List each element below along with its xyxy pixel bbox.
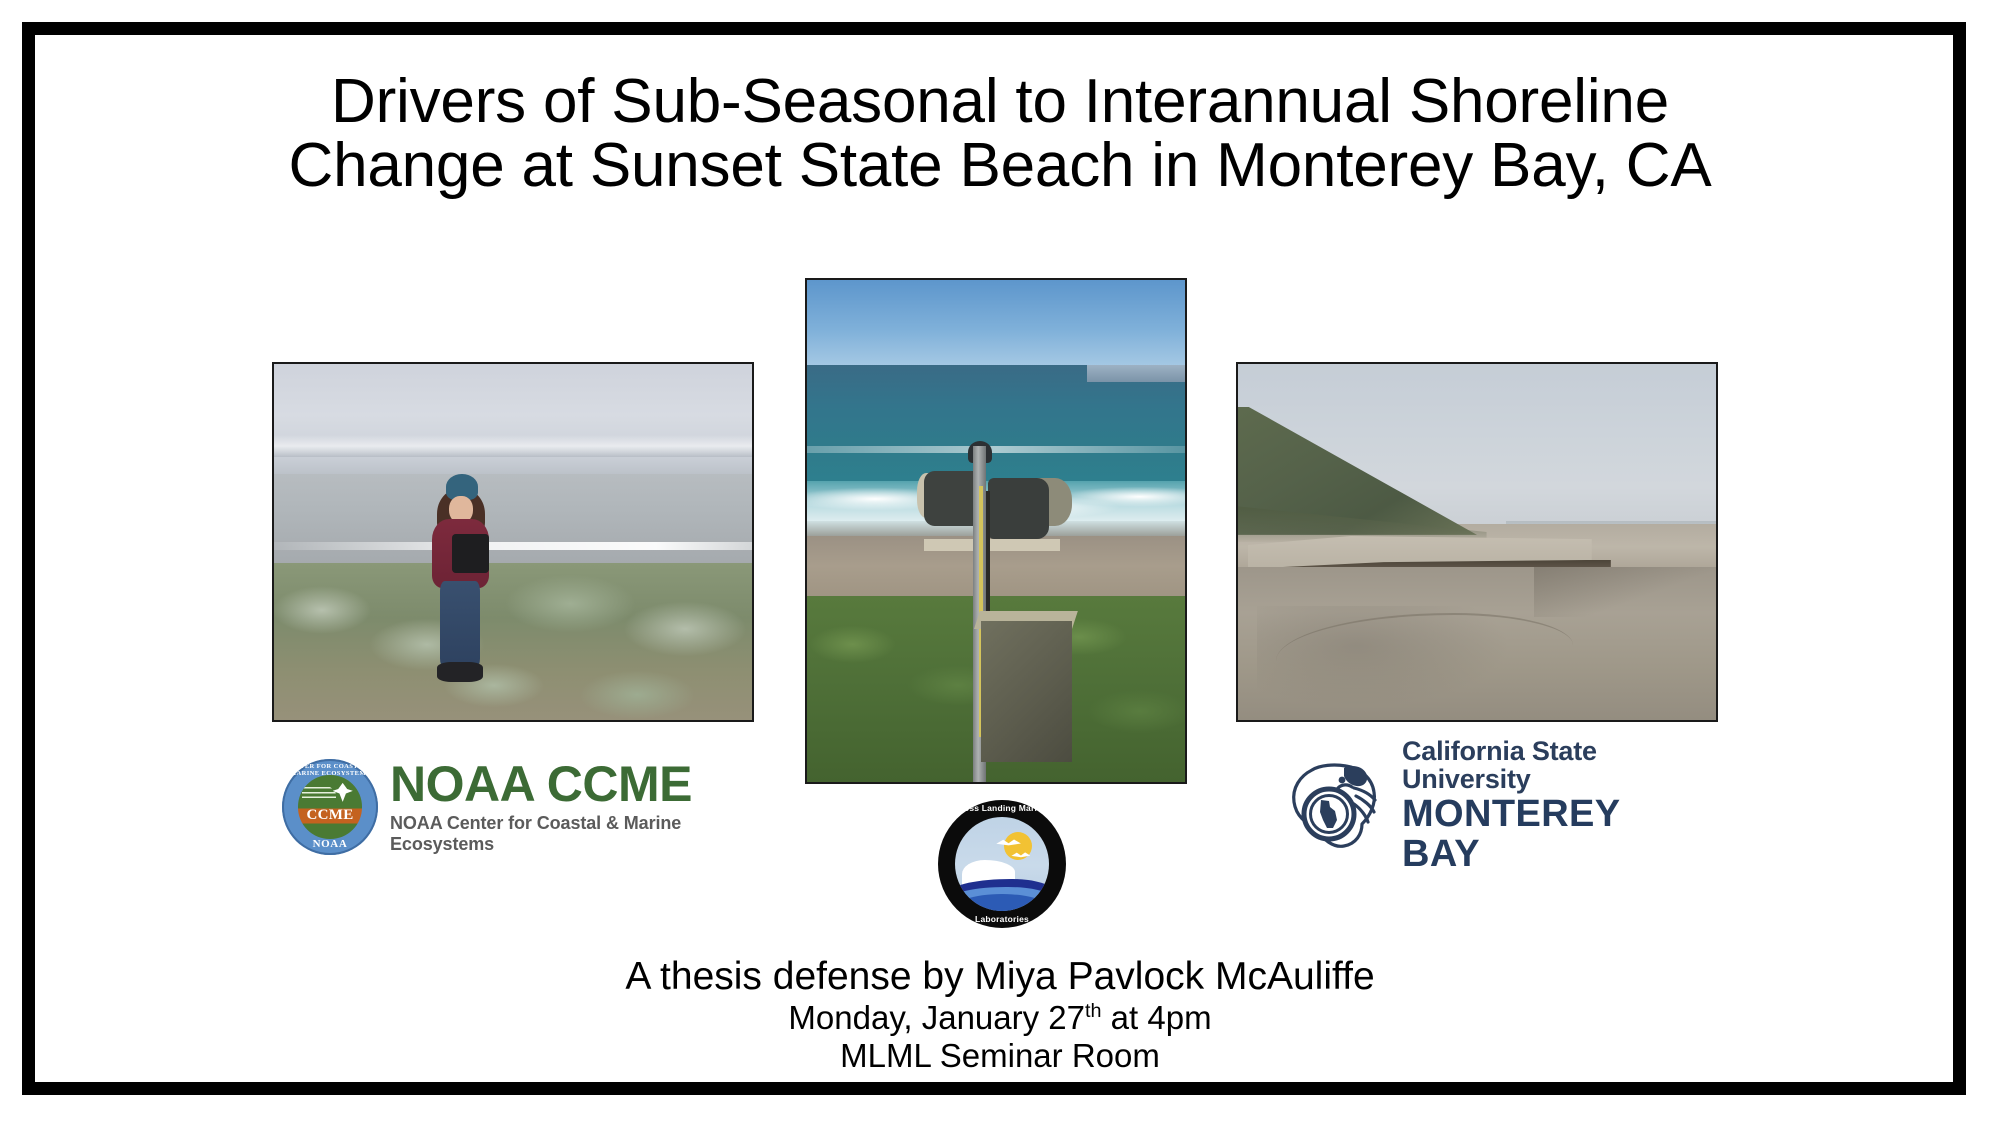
seal-wave-lines <box>302 784 336 802</box>
jeans <box>440 581 480 666</box>
surf-line-outer <box>274 542 752 550</box>
mlml-arc-top-text: Moss Landing Marine <box>938 803 1066 813</box>
camera-housing-right <box>988 478 1048 538</box>
page-title: Drivers of Sub-Seasonal to Interannual S… <box>120 70 1880 199</box>
photo-coastal-camera-station <box>805 278 1187 784</box>
grey-ocean <box>274 474 752 574</box>
date-ordinal: th <box>1085 1000 1102 1022</box>
csumb-university-line: California State University <box>1402 737 1682 794</box>
cloud-band <box>274 435 752 456</box>
seal-arc-bottom-text: NOAA <box>282 838 378 850</box>
offshore-swell-line <box>807 446 1185 453</box>
defense-location-line: MLML Seminar Room <box>120 1037 1880 1075</box>
equipment-box <box>981 621 1072 762</box>
camera-housing-left <box>924 471 977 526</box>
photo-eroded-beach-scarp <box>1236 362 1718 722</box>
title-line-2: Change at Sunset State Beach in Monterey… <box>120 134 1880 198</box>
seal-ccme-text: CCME <box>298 808 361 823</box>
defense-presenter-line: A thesis defense by Miya Pavlock McAulif… <box>120 955 1880 999</box>
mounting-plate <box>924 539 1060 551</box>
csumb-campus-line: MONTEREY BAY <box>1402 795 1682 875</box>
presentation-slide: Drivers of Sub-Seasonal to Interannual S… <box>0 0 2000 1125</box>
footer-details: A thesis defense by Miya Pavlock McAulif… <box>120 955 1880 1075</box>
noaa-ccme-logo: CENTER FOR COASTAL & MARINE ECOSYSTEMS N… <box>282 752 746 862</box>
photo-researcher-on-coastal-bluff <box>272 362 754 722</box>
date-suffix: at 4pm <box>1102 999 1212 1036</box>
otter-head-icon <box>1282 754 1388 858</box>
noaa-ccme-tagline: NOAA Center for Coastal & Marine Ecosyst… <box>390 813 746 855</box>
distant-headland <box>1087 365 1185 382</box>
mlml-arc-bottom-text: Laboratories <box>938 914 1066 924</box>
camera-bag <box>452 534 489 572</box>
mlml-seal-scene <box>955 817 1050 912</box>
title-line-1: Drivers of Sub-Seasonal to Interannual S… <box>120 70 1880 134</box>
mlml-logo: Moss Landing Marine Laboratories <box>938 800 1066 928</box>
blue-sky <box>807 280 1185 370</box>
overcast-sky <box>274 364 752 478</box>
vehicle-tracks <box>1534 567 1716 617</box>
noaa-ccme-text-block: NOAA CCME NOAA Center for Coastal & Mari… <box>390 759 746 855</box>
date-prefix: Monday, January 27 <box>788 999 1085 1036</box>
seal-inner-disc: CCME <box>298 775 361 838</box>
noaa-ccme-seal-icon: CENTER FOR COASTAL & MARINE ECOSYSTEMS N… <box>282 759 378 855</box>
noaa-ccme-wordmark: NOAA CCME <box>390 759 746 809</box>
defense-datetime-line: Monday, January 27th at 4pm <box>120 999 1880 1037</box>
dune-scrub-vegetation <box>274 563 752 720</box>
shoes <box>437 662 483 681</box>
csumb-logo: California State University MONTEREY BAY <box>1282 748 1682 864</box>
researcher-figure <box>425 474 497 688</box>
csumb-text-block: California State University MONTEREY BAY <box>1402 737 1682 875</box>
